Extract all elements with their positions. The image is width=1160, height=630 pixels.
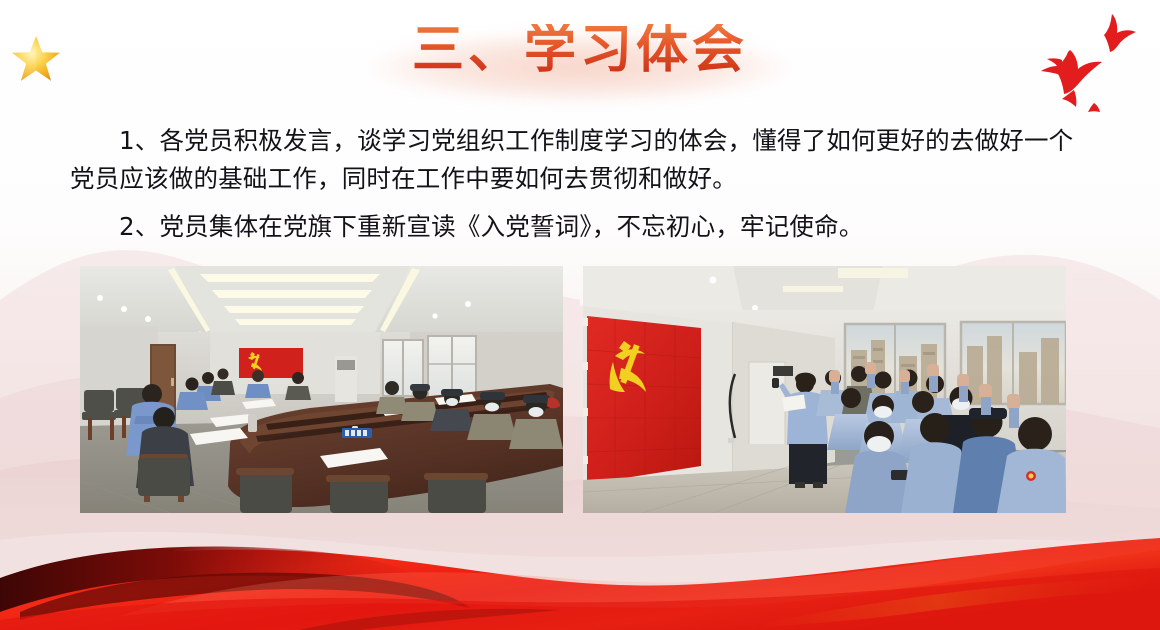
oath-ceremony-photo xyxy=(583,266,1066,513)
red-silk-ribbon xyxy=(0,520,1160,630)
slide-title-text: 三、学习体会 xyxy=(412,24,748,76)
slide-canvas: 三、学习体会 1、各党员积极发言，谈学习党组织工作制度学习的体会，懂得了如何更好… xyxy=(0,0,1160,630)
paragraph-2: 2、党员集体在党旗下重新宣读《入党誓词》，不忘初心，牢记使命。 xyxy=(70,208,1090,246)
slide-title: 三、学习体会 xyxy=(0,24,1160,76)
meeting-room-photo xyxy=(80,266,563,513)
paragraph-1: 1、各党员积极发言，谈学习党组织工作制度学习的体会，懂得了如何更好的去做好一个党… xyxy=(70,122,1090,198)
